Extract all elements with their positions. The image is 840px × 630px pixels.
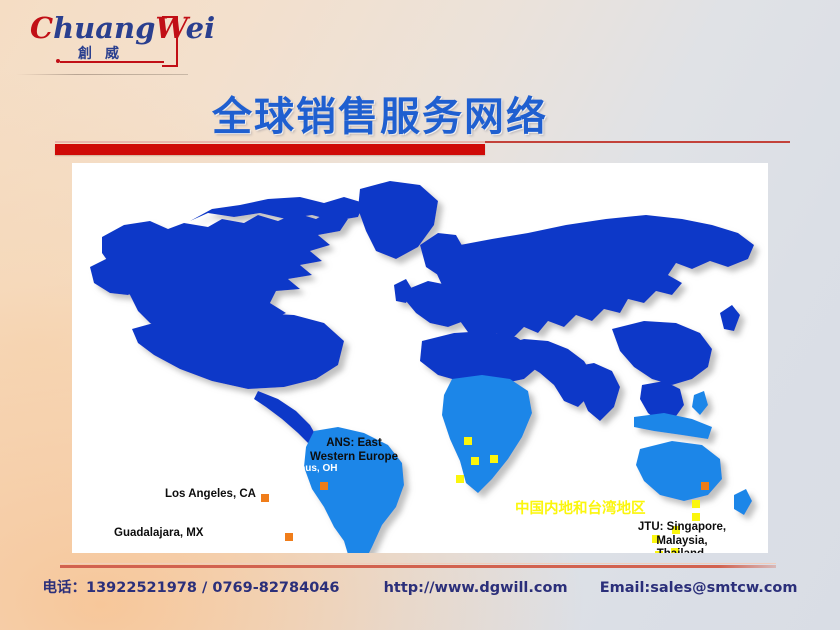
korea-japan-marker: [701, 482, 709, 490]
logo-divider: [16, 74, 188, 75]
map-label-ans-line2: Western Europe: [310, 451, 398, 465]
landmass-philippines: [692, 391, 708, 415]
footer-divider: [60, 565, 776, 568]
map-label-jtu-line2: Malaysia,: [622, 535, 742, 549]
landmass-usa-body: [132, 313, 344, 389]
map-label-jtu-line3: Thailand,: [622, 548, 742, 553]
europe-marker-1: [464, 437, 472, 445]
logo-letter-w: W: [155, 11, 185, 45]
map-label-gemmy-tek-chinese: 中国内地和台湾地区: [515, 501, 646, 518]
landmass-eurasia: [428, 215, 754, 343]
china-marker-2: [692, 513, 700, 521]
logo-letter-c: C: [30, 11, 53, 45]
logo-letters-ei: ei: [186, 11, 215, 45]
landmass-new-zealand: [734, 489, 752, 515]
europe-marker-2: [471, 457, 479, 465]
title-red-bar: [55, 144, 485, 155]
los-angeles-marker: [261, 494, 269, 502]
guadalajara-marker: [285, 533, 293, 541]
map-label-jtu: JTU: Singapore, Malaysia, Thailand, Viet…: [622, 521, 742, 553]
map-label-jtu-line1: JTU: Singapore,: [622, 521, 742, 535]
map-label-los-angeles: Los Angeles, CA: [165, 488, 256, 502]
logo-letters-huang: huang: [53, 11, 155, 45]
landmass-central-america: [254, 391, 318, 445]
title-underline-light: [55, 141, 485, 143]
landmass-east-china: [612, 321, 712, 385]
logo-wordmark: ChuangWei: [30, 14, 215, 43]
landmass-canada-arctic: [190, 197, 364, 221]
map-label-guadalajara: Guadalajara, MX: [114, 527, 203, 541]
landmass-australia: [636, 441, 722, 501]
logo-underline-decoration: [60, 61, 164, 63]
columbus-marker: [320, 482, 328, 490]
slide-canvas: ChuangWei 創威 全球销售服务网络: [0, 0, 840, 630]
logo-dot-decoration: [56, 59, 60, 63]
footer-contact-bar: 电话：13922521978 / 0769-82784046 http://ww…: [0, 576, 840, 597]
footer-phone: 电话：13922521978 / 0769-82784046: [43, 576, 340, 597]
title-thin-red-line: [485, 141, 790, 143]
footer-website[interactable]: http://www.dgwill.com: [384, 580, 568, 596]
company-logo: ChuangWei 創威: [26, 12, 176, 64]
footer-email[interactable]: Email:sales@smtcw.com: [600, 580, 798, 596]
landmass-japan: [720, 305, 740, 331]
page-title: 全球销售服务网络: [212, 84, 548, 142]
landmass-indonesia: [634, 413, 712, 439]
europe-marker-4: [456, 475, 464, 483]
china-marker-1: [692, 500, 700, 508]
world-map-panel: Columbus, OH Los Angeles, CA Guadalajara…: [72, 163, 768, 553]
map-label-columbus: Columbus, OH: [268, 463, 337, 475]
europe-marker-3: [490, 455, 498, 463]
map-label-ans: ANS: East Western Europe: [310, 437, 398, 464]
map-label-gemmy-tek: Gemmy Tek:: [537, 475, 611, 490]
map-label-ans-line1: ANS: East: [310, 437, 398, 451]
logo-chinese-name: 創威: [78, 43, 132, 63]
footer-divider-highlight: [60, 563, 776, 564]
